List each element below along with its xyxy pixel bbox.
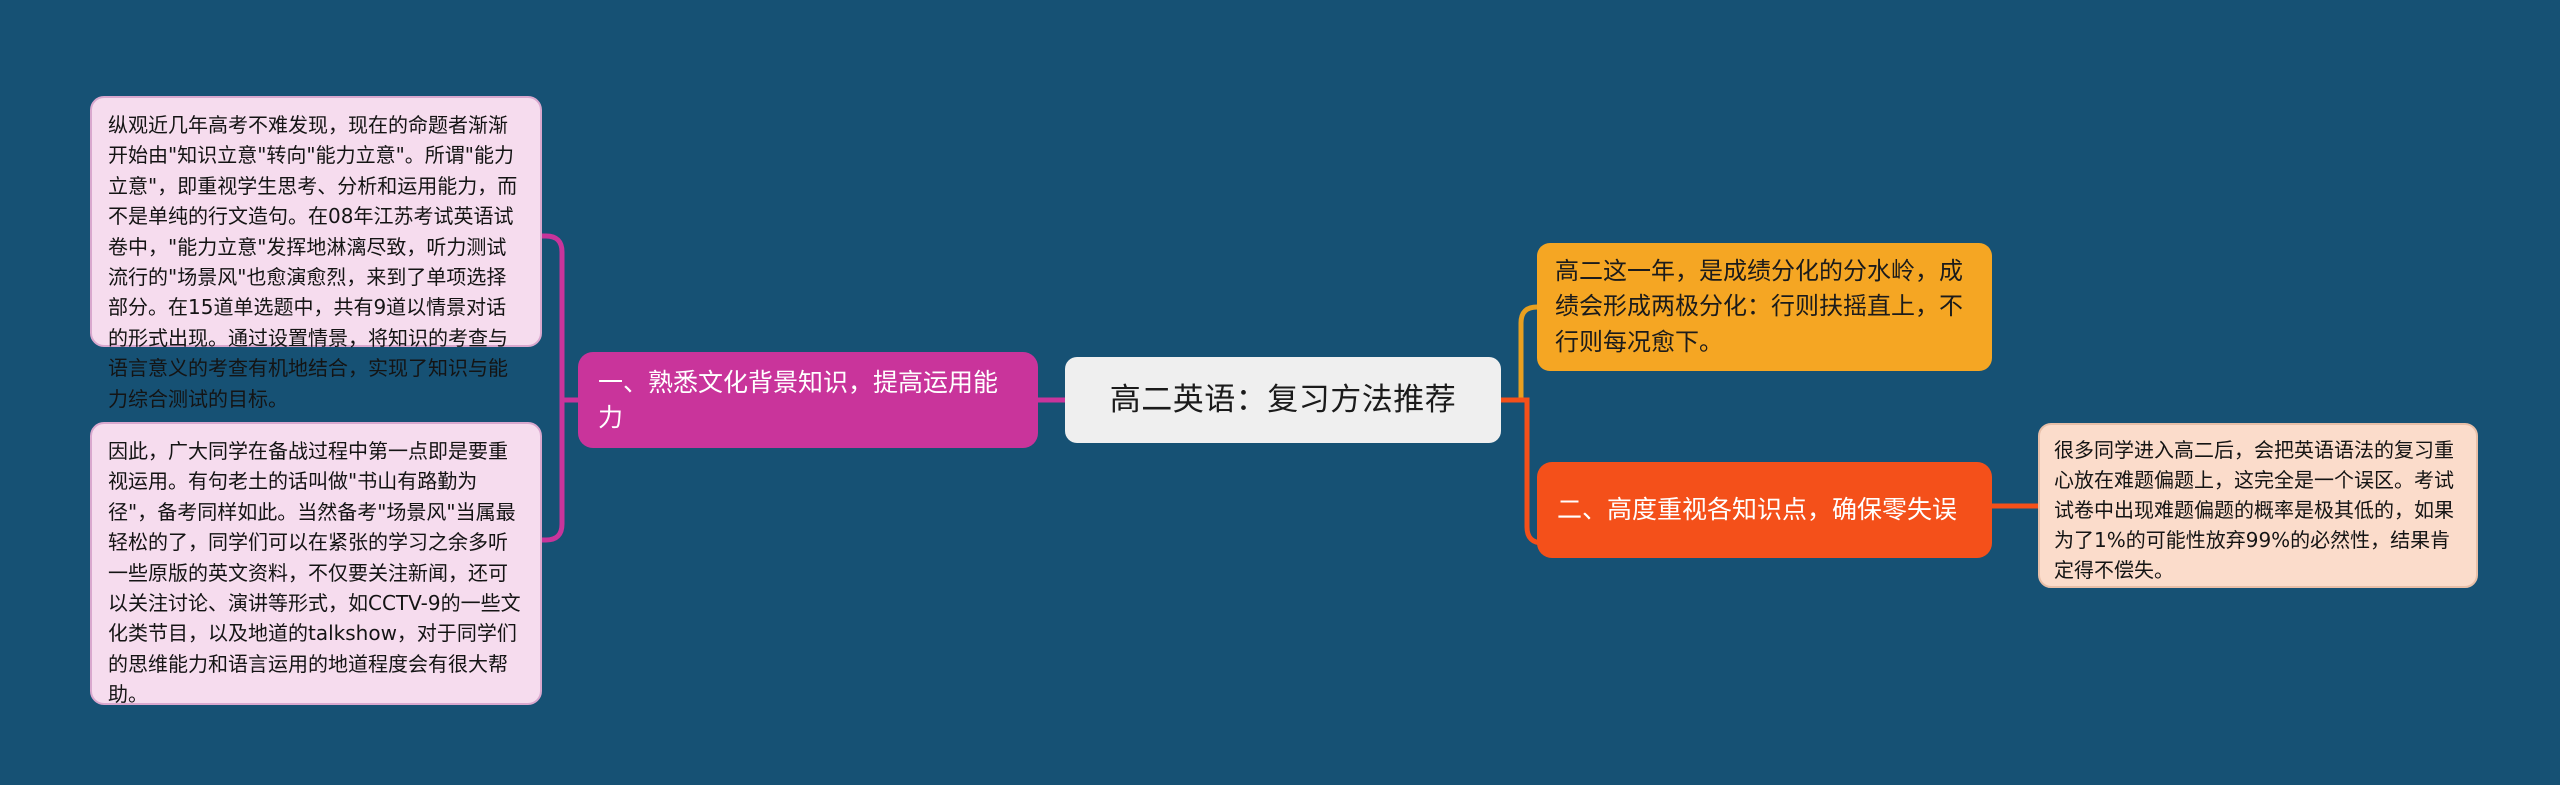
- pink-note-top-text: 纵观近几年高考不难发现，现在的命题者渐渐开始由"知识立意"转向"能力立意"。所谓…: [108, 113, 517, 411]
- branch-node-two[interactable]: 二、高度重视各知识点，确保零失误: [1537, 462, 1992, 558]
- amber-note-text: 高二这一年，是成绩分化的分水岭，成绩会形成两极分化：行则扶摇直上，不行则每况愈下…: [1555, 254, 1974, 361]
- branch-node-two-label: 二、高度重视各知识点，确保零失误: [1557, 492, 1972, 528]
- root-node[interactable]: 高二英语：复习方法推荐: [1065, 357, 1501, 443]
- peach-note-card[interactable]: 很多同学进入高二后，会把英语语法的复习重心放在难题偏题上，这完全是一个误区。考试…: [2038, 423, 2478, 588]
- pink-note-bottom-card[interactable]: 因此，广大同学在备战过程中第一点即是要重视运用。有句老土的话叫做"书山有路勤为径…: [90, 422, 542, 705]
- pink-note-top-card[interactable]: 纵观近几年高考不难发现，现在的命题者渐渐开始由"知识立意"转向"能力立意"。所谓…: [90, 96, 542, 347]
- connector-branch-one-to-pink-bottom: [542, 400, 562, 540]
- pink-note-bottom-text: 因此，广大同学在备战过程中第一点即是要重视运用。有句老土的话叫做"书山有路勤为径…: [108, 439, 521, 706]
- connector-branch-one-to-pink-top: [542, 236, 562, 400]
- mindmap-canvas: 高二英语：复习方法推荐 一、熟悉文化背景知识，提高运用能力 二、高度重视各知识点…: [0, 0, 2560, 785]
- root-node-label: 高二英语：复习方法推荐: [1065, 378, 1501, 422]
- peach-note-text: 很多同学进入高二后，会把英语语法的复习重心放在难题偏题上，这完全是一个误区。考试…: [2054, 438, 2454, 582]
- amber-note-card[interactable]: 高二这一年，是成绩分化的分水岭，成绩会形成两极分化：行则扶摇直上，不行则每况愈下…: [1537, 243, 1992, 371]
- branch-node-one[interactable]: 一、熟悉文化背景知识，提高运用能力: [578, 352, 1038, 448]
- connector-root-to-amber: [1501, 307, 1537, 400]
- branch-node-one-label: 一、熟悉文化背景知识，提高运用能力: [598, 365, 1018, 436]
